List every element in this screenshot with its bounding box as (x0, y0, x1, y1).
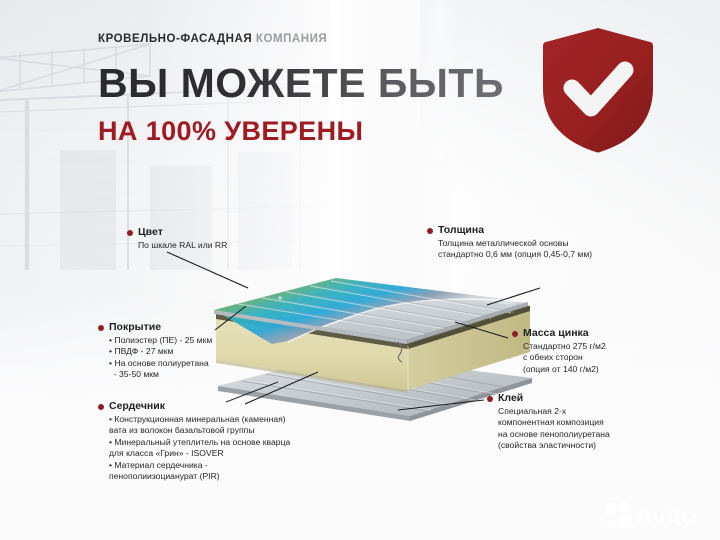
callout-line: (опция от 140 г/м2) (523, 364, 606, 375)
callout-line: Толщина металлической основы (438, 238, 592, 249)
callout-color-lines: По шкале RAL или RR (138, 240, 227, 251)
callout-glue: Клей Специальная 2-х компонентная композ… (487, 392, 610, 452)
poster-canvas: КРОВЕЛЬНО-ФАСАДНАЯ КОМПАНИЯ ВЫ МОЖЕТЕ БЫ… (0, 0, 720, 540)
callout-line: пенополиизоцианурат (PIR) (109, 471, 290, 482)
avito-watermark: Avito (602, 498, 710, 532)
callout-glue-title: Клей (498, 392, 610, 405)
callout-line: на основе пенополиуретана (498, 429, 610, 440)
callout-zinc: Масса цинка Стандартно 275 г/м2 с обеих … (512, 327, 606, 375)
callout-line: • Минеральный утеплитель на основе кварц… (109, 437, 290, 448)
callout-line: Специальная 2-х (498, 406, 610, 417)
callout-line: компонентная композиция (498, 417, 610, 428)
bullet-icon (98, 404, 104, 410)
callout-zinc-lines: Стандартно 275 г/м2 с обеих сторон (опци… (523, 341, 606, 375)
callout-line: с обеих сторон (523, 352, 606, 363)
callout-core: Сердечник • Конструкционная минеральная … (98, 400, 290, 482)
bullet-icon (127, 230, 133, 236)
callout-line: (свойства эластичности) (498, 440, 610, 451)
callout-core-title: Сердечник (109, 400, 290, 413)
callout-line: вата из волокон базальтовой группы (109, 425, 290, 436)
callout-coating-title: Покрытие (109, 321, 212, 334)
callout-thickness: Толщина Толщина металлической основы ста… (427, 224, 592, 261)
callout-line: Стандартно 275 г/м2 (523, 341, 606, 352)
callout-coating-lines: • Полиэстер (ПЕ) - 25 мкм • ПВДФ - 27 мк… (109, 335, 212, 380)
callout-line: • Материал сердечника - (109, 460, 290, 471)
callout-line: • ПВДФ - 27 мкм (109, 346, 212, 357)
callout-thickness-lines: Толщина металлической основы стандартно … (438, 238, 592, 261)
kicker-light: КОМПАНИЯ (256, 33, 327, 45)
callout-line: - 35-50 мкм (109, 369, 212, 380)
callout-coating: Покрытие • Полиэстер (ПЕ) - 25 мкм • ПВД… (98, 321, 212, 381)
callout-line: По шкале RAL или RR (138, 240, 227, 251)
headline-secondary: НА 100% УВЕРЕНЫ (98, 116, 363, 147)
bullet-icon (512, 331, 518, 337)
callout-line: • На основе полиуретана (109, 358, 212, 369)
callout-line: • Полиэстер (ПЕ) - 25 мкм (109, 335, 212, 346)
callout-glue-lines: Специальная 2-х компонентная композиция … (498, 406, 610, 451)
headline-primary: ВЫ МОЖЕТЕ БЫТЬ (98, 62, 504, 105)
callout-line: для класса «Грин» - ISOVER (109, 448, 290, 459)
callout-color-title: Цвет (138, 226, 227, 239)
callout-line: • Конструкционная минеральная (каменная) (109, 414, 290, 425)
callout-core-lines: • Конструкционная минеральная (каменная)… (109, 414, 290, 482)
bullet-icon (98, 325, 104, 331)
bullet-icon (487, 396, 493, 402)
company-kicker: КРОВЕЛЬНО-ФАСАДНАЯ КОМПАНИЯ (98, 33, 327, 45)
callout-line: стандартно 0,6 мм (опция 0,45-0,7 мм) (438, 249, 592, 260)
avito-wordmark: Avito (635, 503, 697, 531)
callout-color: Цвет По шкале RAL или RR (127, 226, 227, 251)
callout-zinc-title: Масса цинка (523, 327, 606, 340)
shield-check-icon (537, 26, 659, 154)
kicker-strong: КРОВЕЛЬНО-ФАСАДНАЯ (98, 33, 252, 45)
callout-thickness-title: Толщина (438, 224, 592, 237)
bullet-icon (427, 228, 433, 234)
